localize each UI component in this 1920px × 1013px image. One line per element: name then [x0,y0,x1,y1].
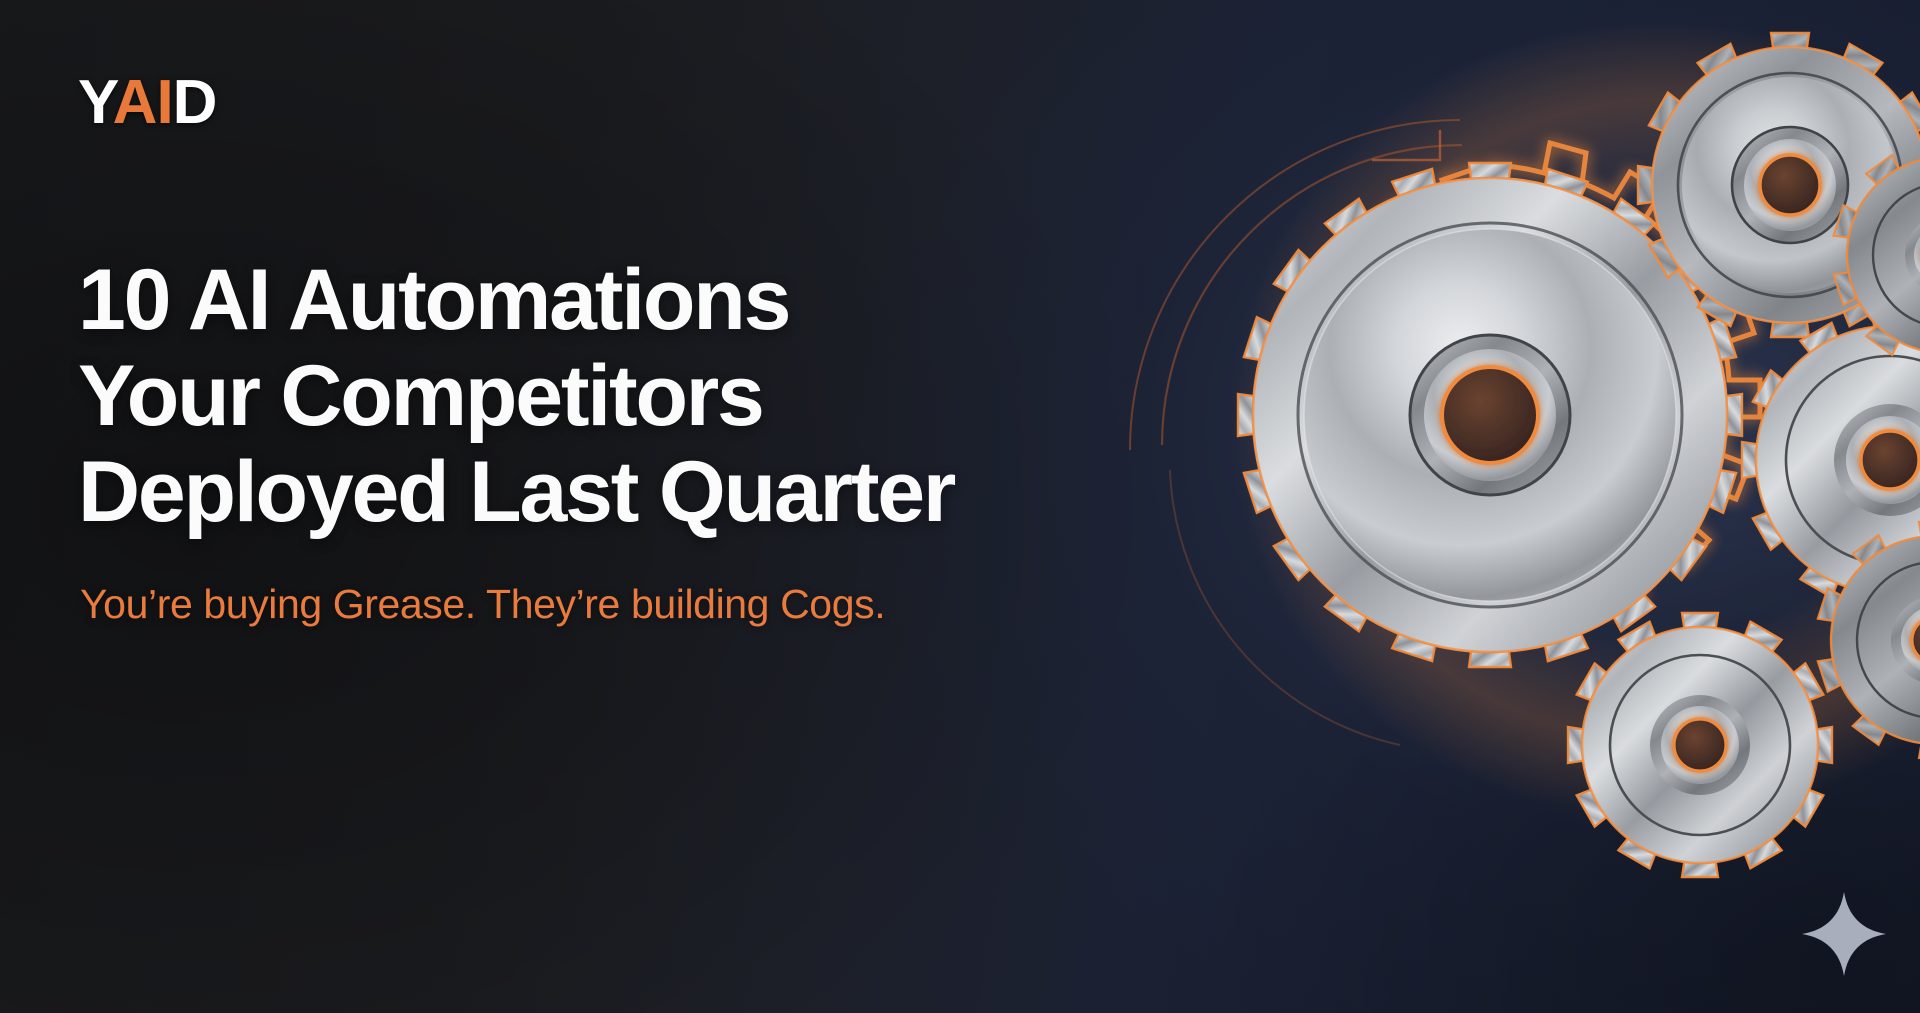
headline-line-2: Your Competitors [78,348,1208,444]
headline-line-1: 10 AI Automations [78,252,1208,348]
sparkle-icon [1790,880,1898,988]
gear-bottom [1568,613,1832,877]
logo-letters-ai: AI [113,68,173,137]
gears-illustration [1100,0,1920,1013]
subtitle-tagline: You’re buying Grease. They’re building C… [80,578,885,630]
gear-top-right [1638,33,1920,337]
logo-letter-y: Y [78,68,113,137]
gear-right-middle [1742,312,1920,608]
brand-logo[interactable]: YAID [78,72,216,134]
logo-letter-d: D [173,68,217,137]
gear-large [1238,143,1760,667]
gear-far-right-upper [1818,522,1920,758]
page-title: 10 AI Automations Your Competitors Deplo… [78,252,1208,540]
promo-banner: YAID 10 AI Automations Your Competitors … [0,0,1920,1013]
headline-line-3: Deployed Last Quarter [78,444,1208,540]
gear-far-right-top [1834,143,1920,367]
